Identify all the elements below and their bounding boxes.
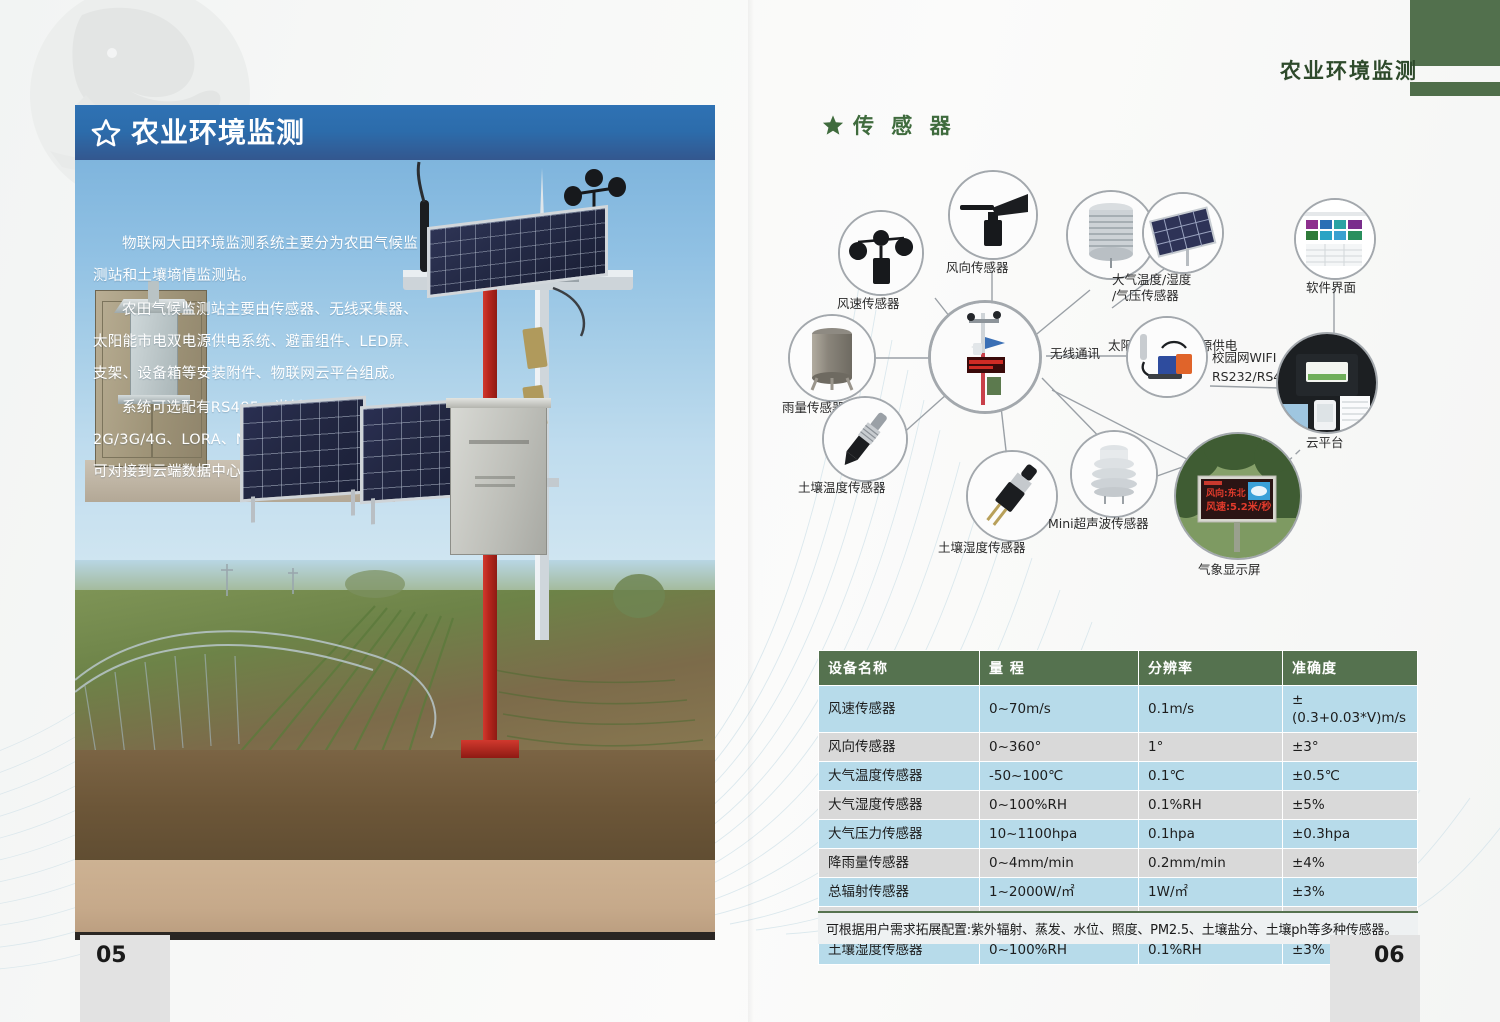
table-cell: 0~360° xyxy=(980,733,1139,762)
diagram-node-soil-temp[interactable] xyxy=(822,396,908,482)
table-cell: ±3% xyxy=(1283,878,1418,907)
brochure-spread: 农业环境监测 xyxy=(0,0,1500,1022)
table-cell: ±5% xyxy=(1283,791,1418,820)
col-accuracy: 准确度 xyxy=(1283,651,1418,686)
svg-text:风速:5.2米/秒: 风速:5.2米/秒 xyxy=(1206,500,1271,513)
col-device-name: 设备名称 xyxy=(819,651,980,686)
enclosure-lid xyxy=(446,398,551,408)
table-cell: ±3° xyxy=(1283,733,1418,762)
table-cell: 0~70m/s xyxy=(980,686,1139,733)
diagram-label-wireless: 无线通讯 xyxy=(1050,346,1100,362)
table-row: 风向传感器0~360°1°±3° xyxy=(819,733,1418,762)
table-cell: 0.1℃ xyxy=(1139,762,1283,791)
enclosure-text-2 xyxy=(475,476,515,479)
diagram-label-soil-temp: 土壤温度传感器 xyxy=(798,480,886,496)
diagram-node-station[interactable] xyxy=(928,300,1042,414)
table-cell: ±4% xyxy=(1283,849,1418,878)
table-cell: 风向传感器 xyxy=(819,733,980,762)
table-cell: 总辐射传感器 xyxy=(819,878,980,907)
diagram-label-cloud-platform: 云平台 xyxy=(1306,435,1344,451)
table-cell: 风速传感器 xyxy=(819,686,980,733)
table-row: 大气湿度传感器0~100%RH0.1%RH±5% xyxy=(819,791,1418,820)
col-range: 量 程 xyxy=(980,651,1139,686)
red-mast-base xyxy=(461,740,519,758)
diagram-label-software-ui: 软件界面 xyxy=(1306,280,1356,296)
table-cell: 降雨量传感器 xyxy=(819,849,980,878)
diagram-node-cloud-platform[interactable] xyxy=(1276,332,1378,434)
enclosure-text-3 xyxy=(475,484,515,487)
diagram-node-solar-power[interactable] xyxy=(1142,192,1224,274)
right-page-number: 06 xyxy=(1374,943,1405,968)
star-solid-icon xyxy=(822,114,844,136)
section-title: 传 感 器 xyxy=(853,110,956,140)
table-row: 降雨量传感器0~4mm/min0.2mm/min±4% xyxy=(819,849,1418,878)
diagram-node-software-ui[interactable] xyxy=(1294,198,1376,280)
table-row: 总辐射传感器1~2000W/㎡1W/㎡±3% xyxy=(819,878,1418,907)
table-cell: 0.1hpa xyxy=(1139,820,1283,849)
table-cell: 10~1100hpa xyxy=(980,820,1139,849)
section-heading: 传 感 器 xyxy=(822,110,956,140)
right-page: 传 感 器 xyxy=(760,0,1500,1022)
diagram-label-mini-ultrasonic: Mini超声波传感器 xyxy=(1048,516,1149,532)
ground-solar-panel-1 xyxy=(240,396,366,503)
table-cell: 大气压力传感器 xyxy=(819,820,980,849)
intro-paragraph-2: 农田气候监测站主要由传感器、无线采集器、太阳能市电双电源供电系统、避雷组件、LE… xyxy=(93,294,423,390)
diagram-node-mini-ultrasonic[interactable] xyxy=(1070,430,1158,518)
station-photo: 物联网大田环境监测系统主要分为农田气候监测站和土壤墒情监测站。 农田气候监测站主… xyxy=(75,160,715,940)
col-resolution: 分辨率 xyxy=(1139,651,1283,686)
page-spine xyxy=(748,0,754,1022)
feature-card: 物联网大田环境监测系统主要分为农田气候监测站和土壤墒情监测站。 农田气候监测站主… xyxy=(75,105,715,940)
svg-text:风向:东北: 风向:东北 xyxy=(1206,487,1246,499)
table-row: 大气压力传感器10~1100hpa0.1hpa±0.3hpa xyxy=(819,820,1418,849)
left-page: 物联网大田环境监测系统主要分为农田气候监测站和土壤墒情监测站。 农田气候监测站主… xyxy=(75,105,715,940)
table-cell: 1~2000W/㎡ xyxy=(980,878,1139,907)
diagram-node-weather-display[interactable]: 风向:东北 风速:5.2米/秒 xyxy=(1174,432,1302,560)
diagram-label-wind-speed: 风速传感器 xyxy=(837,296,900,312)
table-cell: 1° xyxy=(1139,733,1283,762)
table-cell: -50~100℃ xyxy=(980,762,1139,791)
diagram-node-wind-direction[interactable] xyxy=(948,170,1038,260)
table-cell: 大气温度传感器 xyxy=(819,762,980,791)
table-cell: 0.1%RH xyxy=(1139,791,1283,820)
table-cell: ±0.3hpa xyxy=(1283,820,1418,849)
card-title: 农业环境监测 xyxy=(131,119,305,147)
diagram-label-wind-direction: 风向传感器 xyxy=(946,260,1009,276)
table-cell: ±0.5℃ xyxy=(1283,762,1418,791)
card-title-bar: 农业环境监测 xyxy=(75,105,715,160)
diagram-node-wireless[interactable] xyxy=(1126,316,1208,398)
table-footnote: 可根据用户需求拓展配置:紫外辐射、蒸发、水位、照度、PM2.5、土壤盐分、土壤p… xyxy=(818,911,1418,944)
table-row: 大气温度传感器-50~100℃0.1℃±0.5℃ xyxy=(819,762,1418,791)
table-cell: 1W/㎡ xyxy=(1139,878,1283,907)
table-cell: 0~4mm/min xyxy=(980,849,1139,878)
diagram-label-weather-display: 气象显示屏 xyxy=(1198,562,1261,578)
sensor-network-diagram: 风速传感器 风向传感器 xyxy=(760,150,1500,620)
diagram-label-air-tph: 大气温度/湿度/气压传感器 xyxy=(1112,272,1236,304)
left-page-number: 05 xyxy=(96,943,127,968)
star-outline-icon xyxy=(91,118,121,148)
table-cell: 大气湿度传感器 xyxy=(819,791,980,820)
diagram-node-soil-moisture[interactable] xyxy=(966,450,1058,542)
table-cell: ± (0.3+0.03*V)m/s xyxy=(1283,686,1418,733)
enclosure-text-1 xyxy=(469,440,529,444)
intro-paragraph-1: 物联网大田环境监测系统主要分为农田气候监测站和土壤墒情监测站。 xyxy=(93,228,423,292)
diagram-node-wind-speed[interactable] xyxy=(838,210,924,296)
table-header-row: 设备名称 量 程 分辨率 准确度 xyxy=(819,651,1418,686)
diagram-node-rain-gauge[interactable] xyxy=(788,314,876,402)
table-cell: 0.1m/s xyxy=(1139,686,1283,733)
table-cell: 0~100%RH xyxy=(980,791,1139,820)
controller-enclosure xyxy=(450,405,547,555)
table-row: 风速传感器0~70m/s0.1m/s± (0.3+0.03*V)m/s xyxy=(819,686,1418,733)
table-cell: 0.2mm/min xyxy=(1139,849,1283,878)
diagram-label-soil-moisture: 土壤湿度传感器 xyxy=(938,540,1026,556)
